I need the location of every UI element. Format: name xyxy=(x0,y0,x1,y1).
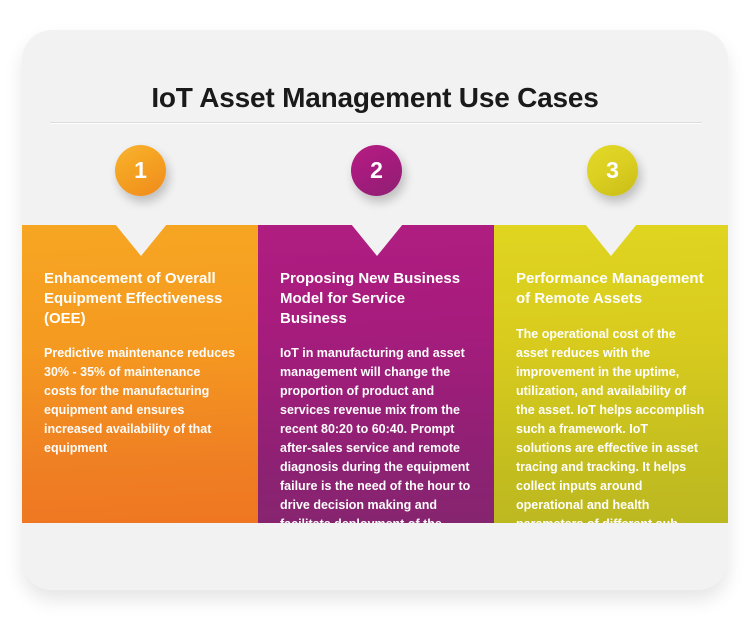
pointer-notch-icon-2 xyxy=(351,225,403,256)
step-badge-1-number: 1 xyxy=(134,157,147,184)
step-panel-2-body: IoT in manufacturing and asset managemen… xyxy=(280,344,472,523)
step-panel-3-body: The operational cost of the asset reduce… xyxy=(516,325,706,523)
infographic-stage: IoT Asset Management Use Cases 1 2 3 Enh… xyxy=(0,0,750,626)
step-panel-2-heading: Proposing New Business Model for Service… xyxy=(280,269,472,328)
step-panel-3-heading: Performance Management of Remote Assets xyxy=(516,269,706,309)
step-badge-1[interactable]: 1 xyxy=(115,145,166,196)
pointer-notch-icon-3 xyxy=(585,225,637,256)
step-panel-3[interactable]: Performance Management of Remote Assets … xyxy=(494,225,728,523)
pointer-notch-icon-1 xyxy=(115,225,167,256)
steps-panel-row: Enhancement of Overall Equipment Effecti… xyxy=(22,225,728,523)
infographic-card: IoT Asset Management Use Cases 1 2 3 Enh… xyxy=(22,30,728,590)
step-panel-2[interactable]: Proposing New Business Model for Service… xyxy=(258,225,494,523)
step-badge-3[interactable]: 3 xyxy=(587,145,638,196)
page-title: IoT Asset Management Use Cases xyxy=(22,82,728,114)
step-badge-2-number: 2 xyxy=(370,157,383,184)
step-badge-3-number: 3 xyxy=(606,157,619,184)
step-panel-1[interactable]: Enhancement of Overall Equipment Effecti… xyxy=(22,225,258,523)
title-divider xyxy=(50,122,702,123)
step-panel-1-heading: Enhancement of Overall Equipment Effecti… xyxy=(44,269,236,328)
step-badge-2[interactable]: 2 xyxy=(351,145,402,196)
step-panel-1-body: Predictive maintenance reduces 30% - 35%… xyxy=(44,344,236,458)
